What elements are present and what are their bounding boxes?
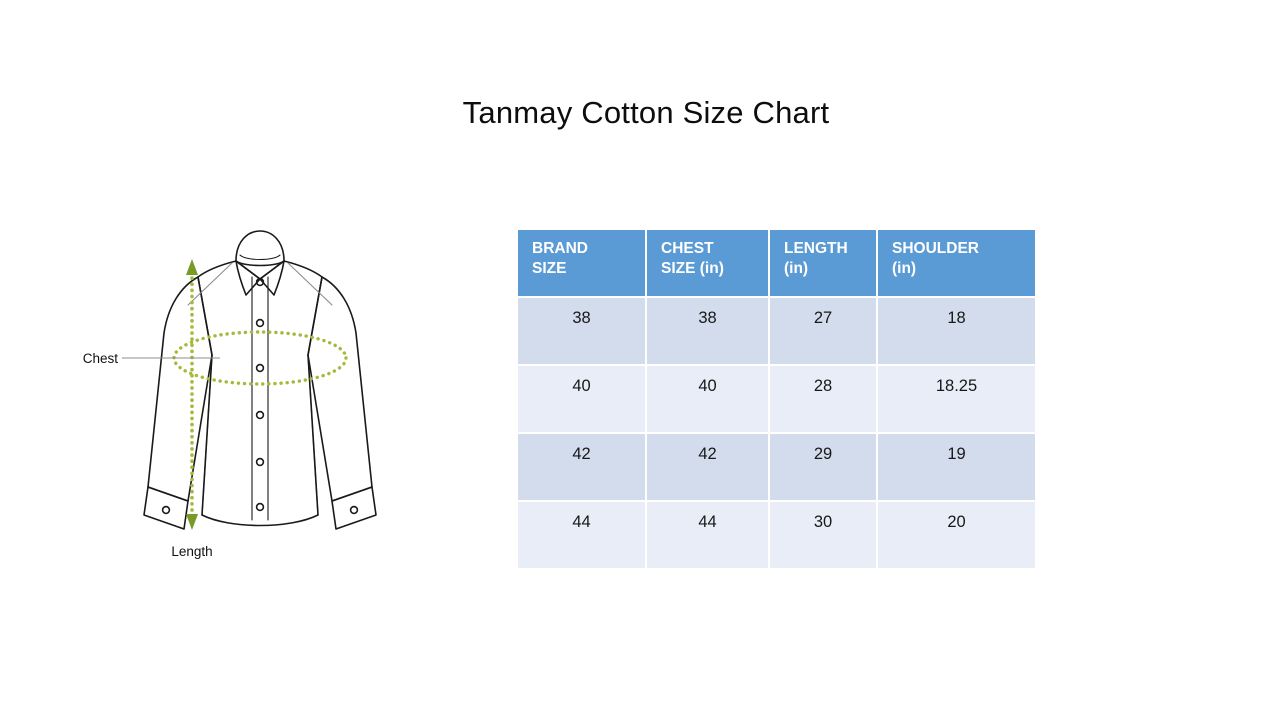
size-table: BRAND SIZE CHEST SIZE (in) LENGTH (in) S… [518, 230, 1035, 568]
cell-length: 29 [770, 432, 878, 500]
column-header-brand-size: BRAND SIZE [518, 230, 647, 296]
column-header-brand-size-line1: BRAND [532, 239, 645, 259]
shirt-illustration-svg: Chest Length [80, 215, 440, 585]
length-arrow-bottom [186, 514, 198, 530]
column-header-shoulder-line2: (in) [892, 259, 1035, 279]
length-label: Length [171, 544, 212, 559]
right-cuff [332, 487, 376, 529]
cell-chest-size: 44 [647, 500, 770, 568]
column-header-length: LENGTH (in) [770, 230, 878, 296]
table-row: 38 38 27 18 [518, 296, 1035, 364]
cell-length: 27 [770, 296, 878, 364]
cell-brand-size: 38 [518, 296, 647, 364]
cell-brand-size: 44 [518, 500, 647, 568]
column-header-length-line1: LENGTH [784, 239, 876, 259]
cell-shoulder: 18.25 [878, 364, 1035, 432]
column-header-brand-size-line2: SIZE [532, 259, 645, 279]
column-header-chest-size: CHEST SIZE (in) [647, 230, 770, 296]
cell-chest-size: 40 [647, 364, 770, 432]
length-measure-line [186, 259, 198, 530]
column-header-shoulder: SHOULDER (in) [878, 230, 1035, 296]
placket-button-3 [257, 365, 264, 372]
right-cuff-button [351, 507, 358, 514]
size-chart-slide: Tanmay Cotton Size Chart [0, 0, 1280, 720]
cell-brand-size: 40 [518, 364, 647, 432]
shirt-diagram: Chest Length [80, 215, 440, 585]
placket-button-5 [257, 459, 264, 466]
column-header-shoulder-line1: SHOULDER [892, 239, 1035, 259]
collar-band-inner [240, 255, 280, 260]
page-title: Tanmay Cotton Size Chart [6, 95, 1280, 131]
collar-band [236, 231, 284, 266]
cell-length: 30 [770, 500, 878, 568]
table-row: 42 42 29 19 [518, 432, 1035, 500]
left-sleeve-outline [148, 277, 212, 501]
cell-chest-size: 42 [647, 432, 770, 500]
right-sleeve-outline [308, 277, 372, 501]
chest-label: Chest [83, 351, 119, 366]
cell-chest-size: 38 [647, 296, 770, 364]
placket-button-6 [257, 504, 264, 511]
cell-shoulder: 20 [878, 500, 1035, 568]
left-cuff [144, 487, 188, 529]
cell-length: 28 [770, 364, 878, 432]
cell-brand-size: 42 [518, 432, 647, 500]
cell-shoulder: 18 [878, 296, 1035, 364]
placket-button-2 [257, 320, 264, 327]
length-arrow-top [186, 259, 198, 275]
placket-button-4 [257, 412, 264, 419]
left-cuff-button [163, 507, 170, 514]
column-header-chest-size-line1: CHEST [661, 239, 768, 259]
cell-shoulder: 19 [878, 432, 1035, 500]
table-row: 44 44 30 20 [518, 500, 1035, 568]
column-header-chest-size-line2: SIZE (in) [661, 259, 768, 279]
shirt-body-outline [198, 261, 322, 526]
table-header-row: BRAND SIZE CHEST SIZE (in) LENGTH (in) S… [518, 230, 1035, 296]
column-header-length-line2: (in) [784, 259, 876, 279]
table-row: 40 40 28 18.25 [518, 364, 1035, 432]
